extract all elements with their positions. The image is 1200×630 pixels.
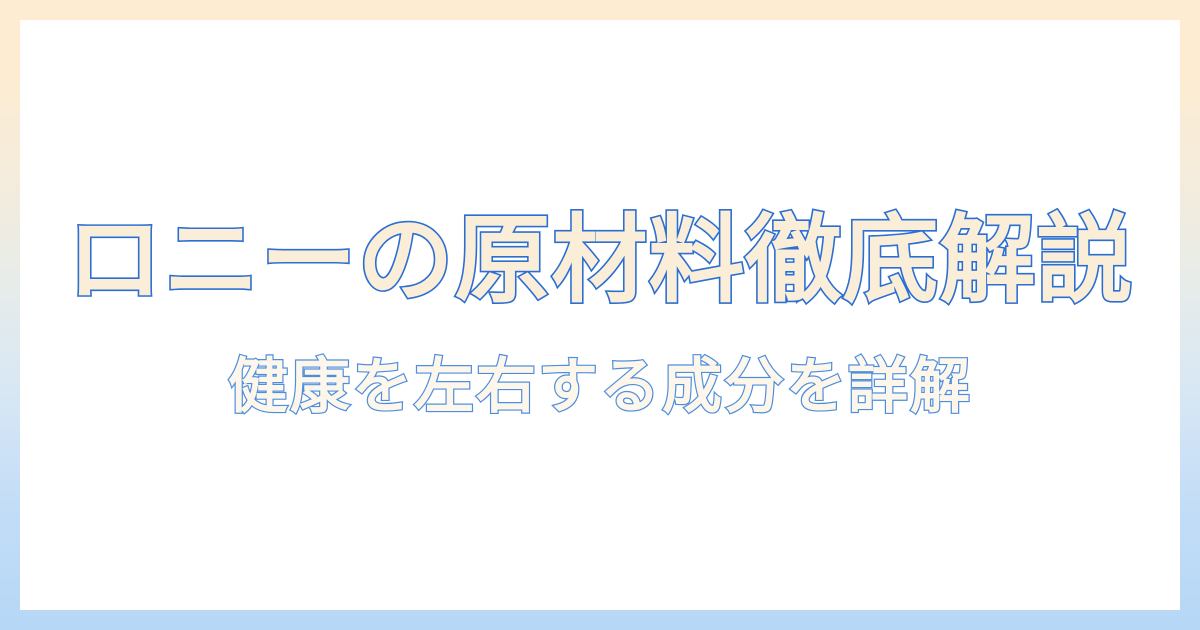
eyecatch-card: ロニーの原材料徹底解説 健康を左右する成分を詳解 (0, 0, 1200, 630)
inner-white-panel (20, 20, 1180, 610)
